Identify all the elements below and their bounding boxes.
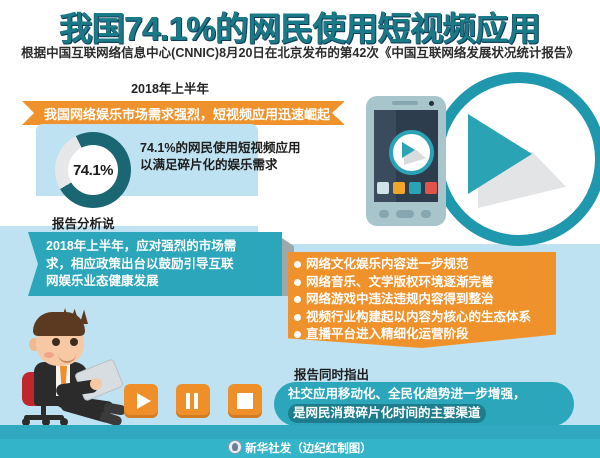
list-item-label: 网络游戏中违法违规内容得到整治 bbox=[306, 291, 494, 309]
also-noted-label: 报告同时指出 bbox=[294, 364, 369, 383]
bullet-dot-icon bbox=[294, 314, 301, 321]
list-item: 视频行业构建起以内容为核心的生态体系 bbox=[294, 309, 556, 327]
analysis-line2: 求，相应政策出台以鼓励引导互联 bbox=[46, 256, 278, 274]
list-item-label: 直播平台进入精细化运营阶段 bbox=[306, 326, 469, 344]
phone-swatch-4 bbox=[425, 182, 437, 194]
phone-button-home bbox=[396, 210, 414, 218]
phone-play-icon bbox=[402, 142, 415, 158]
header: 我国74.1%的网民使用短视频应用 根据中国互联网络信息中心(CNNIC)8月2… bbox=[0, 0, 600, 66]
stop-icon[interactable] bbox=[237, 393, 253, 409]
stat-description-line1: 74.1%的网民使用短视频应用 bbox=[140, 140, 350, 157]
bullet-dot-icon bbox=[294, 331, 301, 338]
analysis-line3: 网娱乐业态健康发展 bbox=[46, 273, 278, 291]
phone-speaker-icon bbox=[392, 101, 418, 105]
infographic-canvas: 我国74.1%的网民使用短视频应用 根据中国互联网络信息中心(CNNIC)8月2… bbox=[0, 0, 600, 458]
person-eye-left bbox=[52, 338, 60, 346]
play-icon[interactable] bbox=[137, 393, 151, 409]
list-item: 直播平台进入精细化运营阶段 bbox=[294, 326, 556, 344]
page-subtitle: 根据中国互联网络信息中心(CNNIC)8月20日在北京发布的第42次《中国互联网… bbox=[0, 42, 600, 61]
list-item-label: 网络音乐、文学版权环境逐渐完善 bbox=[306, 274, 494, 292]
headline-ribbon-text: 我国网络娱乐市场需求强烈，短视频应用迅速崛起 bbox=[22, 101, 344, 125]
pause-icon[interactable] bbox=[186, 393, 190, 409]
footer-credit-text: 新华社发（边纪红制图） bbox=[245, 443, 372, 455]
donut-center: 74.1% bbox=[68, 145, 118, 195]
footer-credit: 新华社发（边纪红制图） bbox=[0, 440, 600, 456]
donut-value: 74.1% bbox=[73, 162, 113, 179]
period-label: 2018年上半年 bbox=[0, 78, 340, 97]
stat-description: 74.1%的网民使用短视频应用 以满足碎片化的娱乐需求 bbox=[140, 140, 350, 174]
list-item: 网络音乐、文学版权环境逐渐完善 bbox=[294, 274, 556, 292]
phone-button-back bbox=[379, 210, 389, 218]
also-noted-line2: 是网民消费碎片化时间的主要渠道 bbox=[288, 404, 486, 423]
pause-button[interactable] bbox=[176, 384, 210, 418]
findings-list: 网络文化娱乐内容进一步规范 网络音乐、文学版权环境逐渐完善 网络游戏中违法违规内… bbox=[294, 256, 556, 344]
bullet-dot-icon bbox=[294, 279, 301, 286]
list-item-label: 网络文化娱乐内容进一步规范 bbox=[306, 256, 469, 274]
analysis-label: 报告分析说 bbox=[52, 213, 115, 232]
phone-swatch-1 bbox=[377, 182, 389, 194]
phone-camera-icon bbox=[429, 101, 434, 106]
analysis-line1: 2018年上半年，应对强烈的市场需 bbox=[46, 238, 278, 256]
list-item: 网络游戏中违法违规内容得到整治 bbox=[294, 291, 556, 309]
phone-swatch-2 bbox=[393, 182, 405, 194]
pause-icon[interactable] bbox=[194, 393, 198, 409]
person-hair bbox=[33, 312, 85, 336]
xinhua-logo-icon bbox=[228, 440, 242, 454]
phone-button-menu bbox=[421, 210, 431, 218]
play-triangle-icon bbox=[468, 114, 532, 194]
list-item-label: 视频行业构建起以内容为核心的生态体系 bbox=[306, 309, 531, 327]
also-noted-line1: 社交应用移动化、全民化趋势进一步增强， bbox=[288, 385, 574, 404]
stat-description-line2: 以满足碎片化的娱乐需求 bbox=[140, 157, 350, 174]
list-item: 网络文化娱乐内容进一步规范 bbox=[294, 256, 556, 274]
ground-strip bbox=[0, 425, 600, 439]
phone-swatch-3 bbox=[409, 182, 421, 194]
person-cheek bbox=[44, 352, 54, 358]
also-noted-text: 社交应用移动化、全民化趋势进一步增强， 是网民消费碎片化时间的主要渠道 bbox=[288, 385, 574, 423]
person-hand bbox=[90, 378, 102, 390]
donut-chart: 74.1% bbox=[55, 132, 131, 208]
analysis-text: 2018年上半年，应对强烈的市场需 求，相应政策出台以鼓励引导互联 网娱乐业态健… bbox=[46, 238, 278, 291]
bullet-dot-icon bbox=[294, 296, 301, 303]
person-eye-right bbox=[70, 338, 78, 346]
bullet-dot-icon bbox=[294, 261, 301, 268]
